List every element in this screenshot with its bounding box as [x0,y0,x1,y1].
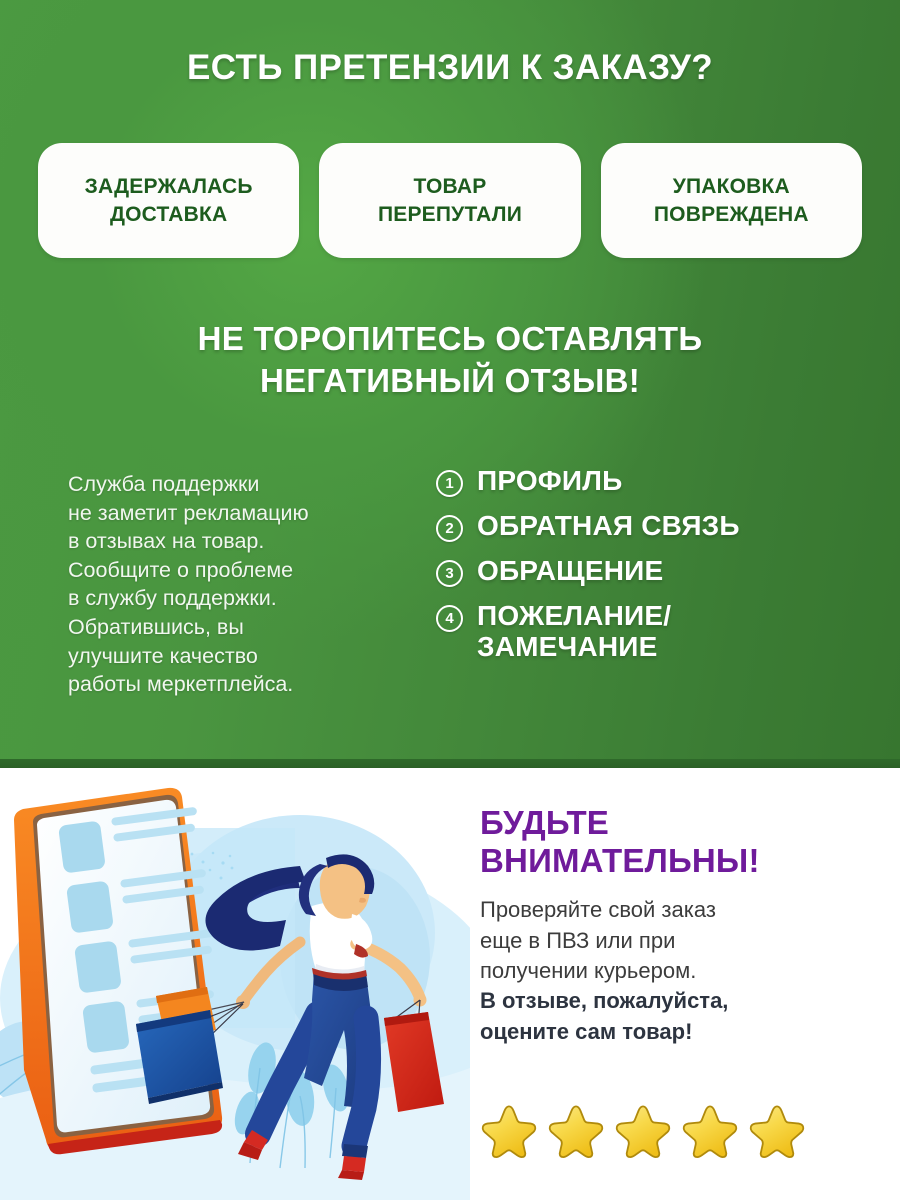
paragraph-line: Обратившись, вы [68,613,398,642]
subheading: НЕ ТОРОПИТЕСЬ ОСТАВЛЯТЬ НЕГАТИВНЫЙ ОТЗЫВ… [40,318,860,402]
attention-heading: БУДЬТЕ ВНИМАТЕЛЬНЫ! [480,804,880,879]
reason-card-line2: ДОСТАВКА [85,201,253,228]
step-item-request[interactable]: 3 ОБРАЩЕНИЕ [436,555,876,587]
green-section: ЕСТЬ ПРЕТЕНЗИИ К ЗАКАЗУ? ЗАДЕРЖАЛАСЬ ДОС… [0,0,900,768]
note-line: еще в ПВЗ или при [480,926,880,956]
attention-heading-line1: БУДЬТЕ [480,804,880,842]
attention-block: БУДЬТЕ ВНИМАТЕЛЬНЫ! Проверяйте свой зака… [480,804,880,1047]
step-label: ПОЖЕЛАНИЕ/ ЗАМЕЧАНИЕ [477,600,671,663]
step-label: ПРОФИЛЬ [477,465,622,496]
note-line: Проверяйте свой заказ [480,895,880,925]
note-line-bold: оцените сам товар! [480,1017,880,1047]
paragraph-line: не заметит рекламацию [68,499,398,528]
step-label-line1: ОБРАТНАЯ СВЯЗЬ [477,510,740,541]
paragraph-line: работы меркетплейса. [68,670,398,699]
step-item-profile[interactable]: 1 ПРОФИЛЬ [436,465,876,497]
reason-card-line2: ПОВРЕЖДЕНА [654,201,809,228]
green-body-columns: Служба поддержки не заметит рекламацию в… [0,465,900,725]
note-line-bold: В отзыве, пожалуйста, [480,986,880,1016]
reason-card-line1: УПАКОВКА [654,173,809,200]
step-label-line1: ОБРАЩЕНИЕ [477,555,663,586]
support-explanation-paragraph: Служба поддержки не заметит рекламацию в… [68,470,398,699]
step-label-line2: ЗАМЕЧАНИЕ [477,631,671,662]
star-icon[interactable] [480,1100,538,1158]
attention-note: Проверяйте свой заказ еще в ПВЗ или при … [480,895,880,1047]
shopping-woman-illustration [0,768,470,1200]
reason-card-line1: ТОВАР [378,173,522,200]
subheading-line1: НЕ ТОРОПИТЕСЬ ОСТАВЛЯТЬ [40,318,860,360]
paragraph-line: в отзывах на товар. [68,527,398,556]
step-item-feedback[interactable]: 2 ОБРАТНАЯ СВЯЗЬ [436,510,876,542]
white-section: БУДЬТЕ ВНИМАТЕЛЬНЫ! Проверяйте свой зака… [0,768,900,1200]
attention-heading-line2: ВНИМАТЕЛЬНЫ! [480,842,880,880]
step-label-line1: ПРОФИЛЬ [477,465,622,496]
star-icon[interactable] [614,1100,672,1158]
rating-stars[interactable] [480,1100,880,1158]
reason-card-line1: ЗАДЕРЖАЛАСЬ [85,173,253,200]
star-icon[interactable] [547,1100,605,1158]
note-line: получении курьером. [480,956,880,986]
step-item-wish-remark[interactable]: 4 ПОЖЕЛАНИЕ/ ЗАМЕЧАНИЕ [436,600,876,663]
reason-card-damaged-packaging[interactable]: УПАКОВКА ПОВРЕЖДЕНА [601,143,862,258]
step-number-circle-icon: 1 [436,470,463,497]
paragraph-line: Служба поддержки [68,470,398,499]
step-number-circle-icon: 3 [436,560,463,587]
step-number-circle-icon: 2 [436,515,463,542]
reason-card-delivery-delayed[interactable]: ЗАДЕРЖАЛАСЬ ДОСТАВКА [38,143,299,258]
page-title: ЕСТЬ ПРЕТЕНЗИИ К ЗАКАЗУ? [0,48,900,88]
reason-card-line2: ПЕРЕПУТАЛИ [378,201,522,228]
paragraph-line: в службу поддержки. [68,584,398,613]
star-icon[interactable] [748,1100,806,1158]
step-number-circle-icon: 4 [436,605,463,632]
star-icon[interactable] [681,1100,739,1158]
step-label: ОБРАЩЕНИЕ [477,555,663,586]
promo-banner: ЕСТЬ ПРЕТЕНЗИИ К ЗАКАЗУ? ЗАДЕРЖАЛАСЬ ДОС… [0,0,900,1200]
subheading-line2: НЕГАТИВНЫЙ ОТЗЫВ! [40,360,860,402]
steps-list: 1 ПРОФИЛЬ 2 ОБРАТНАЯ СВЯЗЬ 3 ОБРАЩЕНИЕ [436,465,876,663]
step-label-line1: ПОЖЕЛАНИЕ/ [477,600,671,631]
reason-card-wrong-item[interactable]: ТОВАР ПЕРЕПУТАЛИ [319,143,580,258]
paragraph-line: улучшите качество [68,642,398,671]
paragraph-line: Сообщите о проблеме [68,556,398,585]
complaint-reasons-list: ЗАДЕРЖАЛАСЬ ДОСТАВКА ТОВАР ПЕРЕПУТАЛИ УП… [38,143,862,258]
step-label: ОБРАТНАЯ СВЯЗЬ [477,510,740,541]
